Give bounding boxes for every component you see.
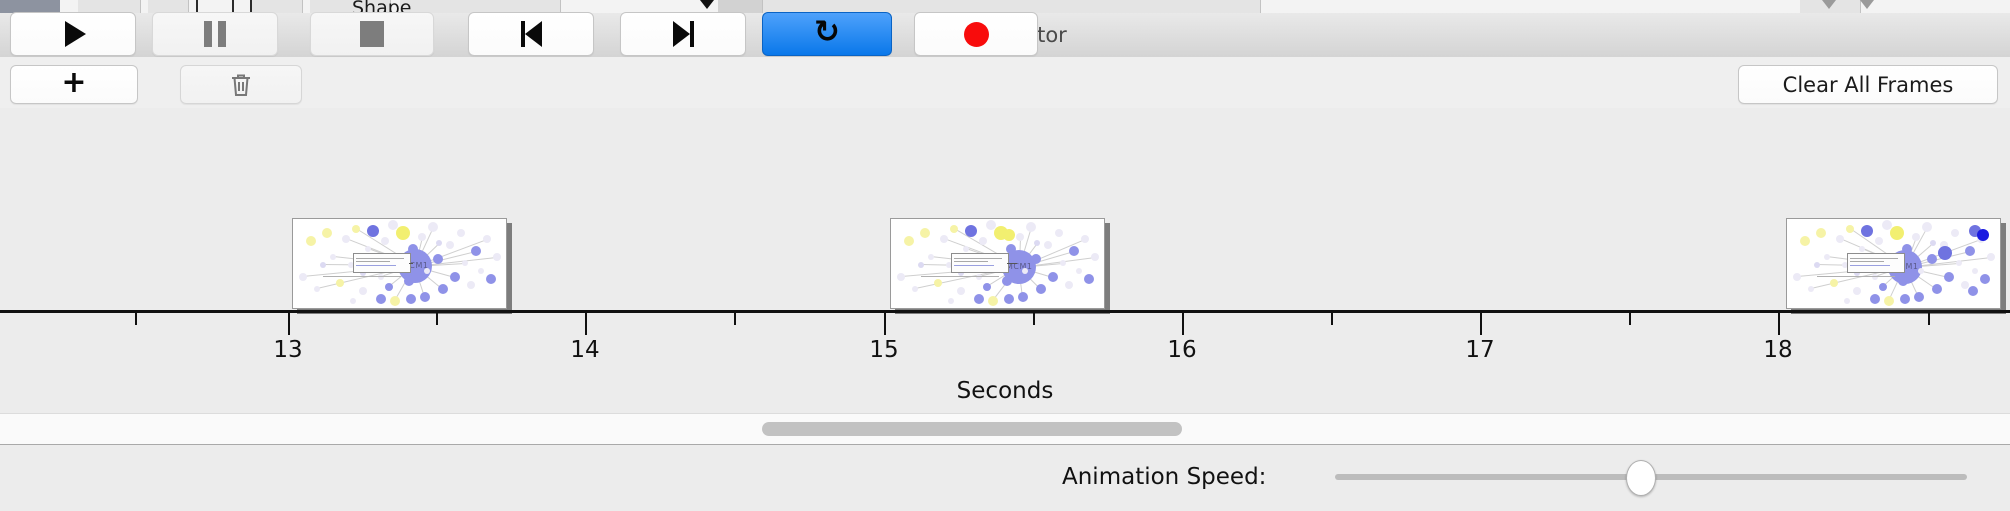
network-node [1972, 268, 1978, 274]
animation-speed-slider-thumb[interactable] [1626, 460, 1656, 496]
network-node [940, 235, 948, 243]
axis-tick-major [1778, 313, 1780, 335]
network-node [1938, 246, 1952, 260]
network-node [1890, 226, 1904, 240]
skip-to-end-button[interactable] [620, 12, 746, 56]
network-node [1879, 283, 1887, 291]
network-node [965, 225, 977, 237]
pause-icon [204, 21, 226, 47]
axis-tick-minor [135, 313, 137, 325]
axis-tick-label: 15 [869, 337, 898, 363]
network-node [1844, 298, 1850, 304]
network-node [376, 294, 386, 304]
callout-textline [1850, 261, 1884, 262]
network-node [1816, 228, 1826, 238]
axis-tick-major [288, 313, 290, 335]
plus-icon: + [61, 68, 86, 98]
network-node [1004, 294, 1014, 304]
network-thumbnail: MCM1 [890, 218, 1105, 309]
axis-title: Seconds [0, 378, 2010, 404]
network-node [350, 298, 356, 304]
axis-tick-minor [1928, 313, 1930, 325]
toolbar: + Clear All Frames [0, 57, 2010, 109]
network-callout [1847, 253, 1905, 273]
network-node [428, 222, 438, 232]
network-node [306, 236, 316, 246]
network-node [418, 233, 426, 241]
network-node [934, 279, 942, 287]
network-callout [951, 253, 1009, 273]
network-node [1800, 236, 1810, 246]
network-node [330, 254, 336, 260]
thumbnail-caption [921, 276, 999, 277]
timeline-axis [0, 310, 2010, 313]
network-node [471, 246, 481, 256]
callout-connector [409, 263, 413, 264]
network-node [1944, 272, 1954, 282]
network-node [1980, 274, 1990, 284]
axis-tick-minor [1033, 313, 1035, 325]
network-node [1091, 253, 1099, 261]
network-node [1965, 246, 1975, 256]
frame-thumbnail-2[interactable]: MCM1 [890, 218, 1110, 314]
frame-thumbnail-1[interactable]: MCM1 [292, 218, 512, 314]
network-node [314, 286, 320, 292]
network-node [1987, 253, 1995, 261]
network-node [1031, 254, 1041, 264]
loop-button[interactable]: ↻ [762, 12, 892, 56]
network-node [396, 226, 410, 240]
clear-all-frames-label: Clear All Frames [1783, 73, 1954, 97]
network-node [1793, 273, 1801, 281]
network-thumbnail: MCM1 [292, 218, 507, 309]
axis-tick-label: 17 [1465, 337, 1494, 363]
network-node [450, 272, 460, 282]
axis-tick-major [1182, 313, 1184, 335]
animation-speed-label: Animation Speed: [1062, 444, 1266, 510]
thumbnail-caption [1817, 276, 1895, 277]
network-node [1084, 274, 1094, 284]
axis-tick-minor [734, 313, 736, 325]
network-node [1927, 254, 1937, 264]
network-node [1859, 246, 1865, 252]
network-callout [353, 253, 411, 273]
network-thumbnail: MCM1 [1786, 218, 2001, 309]
network-node [359, 287, 367, 295]
callout-textline [356, 261, 390, 262]
network-node [1018, 292, 1028, 302]
network-node [390, 296, 400, 306]
network-node [988, 296, 998, 306]
axis-tick-label: 16 [1167, 337, 1196, 363]
cyanimator-window: Shape CyAnimator + Clear All Frames [0, 0, 2010, 510]
network-node [912, 286, 918, 292]
network-node [904, 236, 914, 246]
network-node [378, 274, 384, 280]
add-frame-button[interactable]: + [10, 65, 138, 104]
network-node [1034, 240, 1040, 246]
network-node [478, 268, 484, 274]
callout-textline [954, 258, 1002, 259]
network-node [433, 254, 443, 264]
network-node [974, 294, 984, 304]
network-node [1824, 254, 1830, 260]
network-node [1956, 260, 1962, 266]
skip-to-start-icon [521, 21, 542, 47]
network-node [486, 274, 496, 284]
network-node [483, 235, 491, 243]
callout-textline [1850, 265, 1890, 266]
skip-to-start-button[interactable] [468, 12, 594, 56]
network-node [963, 246, 969, 252]
callout-textline [356, 258, 404, 259]
network-node [424, 268, 430, 274]
scrollbar-track[interactable] [0, 413, 2010, 445]
callout-textline [1850, 258, 1898, 259]
play-icon [65, 21, 86, 47]
network-node [420, 292, 430, 302]
callout-textline [954, 265, 994, 266]
axis-tick-minor [1331, 313, 1333, 325]
axis-tick-minor [436, 313, 438, 325]
network-node [467, 281, 475, 289]
network-node [1900, 294, 1910, 304]
stop-button[interactable] [310, 12, 434, 56]
network-node [1065, 281, 1073, 289]
network-node [1846, 225, 1854, 233]
callout-textline [356, 265, 396, 266]
network-node [1870, 294, 1880, 304]
animation-speed-slider[interactable] [1335, 474, 1967, 480]
network-node [897, 273, 905, 281]
network-node [1977, 229, 1989, 241]
axis-tick-major [1480, 313, 1482, 335]
network-node [1069, 246, 1079, 256]
network-node [920, 228, 930, 238]
network-node [299, 273, 307, 281]
network-node [1853, 287, 1861, 295]
network-node [336, 279, 344, 287]
network-node [950, 225, 958, 233]
network-node [1836, 235, 1844, 243]
network-node [1814, 262, 1820, 268]
network-node [1861, 225, 1873, 237]
network-node [322, 228, 332, 238]
network-node [1076, 268, 1082, 274]
network-node [979, 237, 987, 245]
network-node [365, 246, 371, 252]
network-node [385, 283, 393, 291]
network-node [1968, 286, 1978, 296]
delete-frame-button[interactable] [180, 65, 302, 104]
network-node [1016, 233, 1024, 241]
network-node [406, 294, 416, 304]
network-node [1036, 284, 1046, 294]
network-node [342, 235, 350, 243]
network-node [1002, 276, 1012, 286]
network-node [928, 254, 934, 260]
network-node [1022, 268, 1028, 274]
axis-tick-major [884, 313, 886, 335]
network-node [381, 237, 389, 245]
network-node [1951, 229, 1959, 237]
axis-tick-label: 14 [570, 337, 599, 363]
loop-icon: ↻ [814, 17, 840, 48]
network-node [446, 241, 454, 249]
pause-button[interactable] [152, 12, 278, 56]
network-node [438, 284, 448, 294]
callout-textline [954, 261, 988, 262]
trash-icon [229, 72, 253, 98]
scrollbar-thumb[interactable] [762, 422, 1182, 436]
network-node [948, 298, 954, 304]
network-node [957, 287, 965, 295]
network-node [1912, 233, 1920, 241]
record-icon [964, 22, 989, 47]
axis-tick-label: 13 [273, 337, 302, 363]
skip-to-end-icon [673, 21, 694, 47]
network-node [918, 262, 924, 268]
network-node [1922, 222, 1932, 232]
network-node [1003, 229, 1015, 241]
network-node [320, 262, 326, 268]
thumbnail-caption [323, 276, 401, 277]
stop-icon [360, 21, 384, 47]
network-node [1830, 279, 1838, 287]
network-node [1898, 276, 1908, 286]
network-node [1930, 240, 1936, 246]
network-node [1872, 274, 1878, 280]
axis-tick-minor [1629, 313, 1631, 325]
network-node [983, 283, 991, 291]
network-node [1875, 237, 1883, 245]
clear-all-frames-button[interactable]: Clear All Frames [1738, 65, 1998, 104]
network-node [1918, 268, 1924, 274]
record-button[interactable] [914, 12, 1038, 56]
frame-thumbnail-3[interactable]: MCM1 [1786, 218, 2006, 314]
network-node [367, 225, 379, 237]
network-node [1914, 292, 1924, 302]
network-node [1884, 296, 1894, 306]
network-node [493, 253, 501, 261]
network-node [1932, 284, 1942, 294]
network-node [352, 225, 360, 233]
axis-tick-major [585, 313, 587, 335]
network-node [1044, 241, 1052, 249]
network-node [1808, 286, 1814, 292]
network-node [1081, 235, 1089, 243]
network-node [436, 240, 442, 246]
network-node [1060, 260, 1066, 266]
network-node [1026, 222, 1036, 232]
network-node [1048, 272, 1058, 282]
network-node [404, 276, 414, 286]
play-button[interactable] [10, 12, 136, 56]
axis-tick-label: 18 [1763, 337, 1792, 363]
network-node [1055, 229, 1063, 237]
network-node [462, 260, 468, 266]
callout-connector [1007, 263, 1017, 264]
network-node [457, 229, 465, 237]
network-node [976, 274, 982, 280]
